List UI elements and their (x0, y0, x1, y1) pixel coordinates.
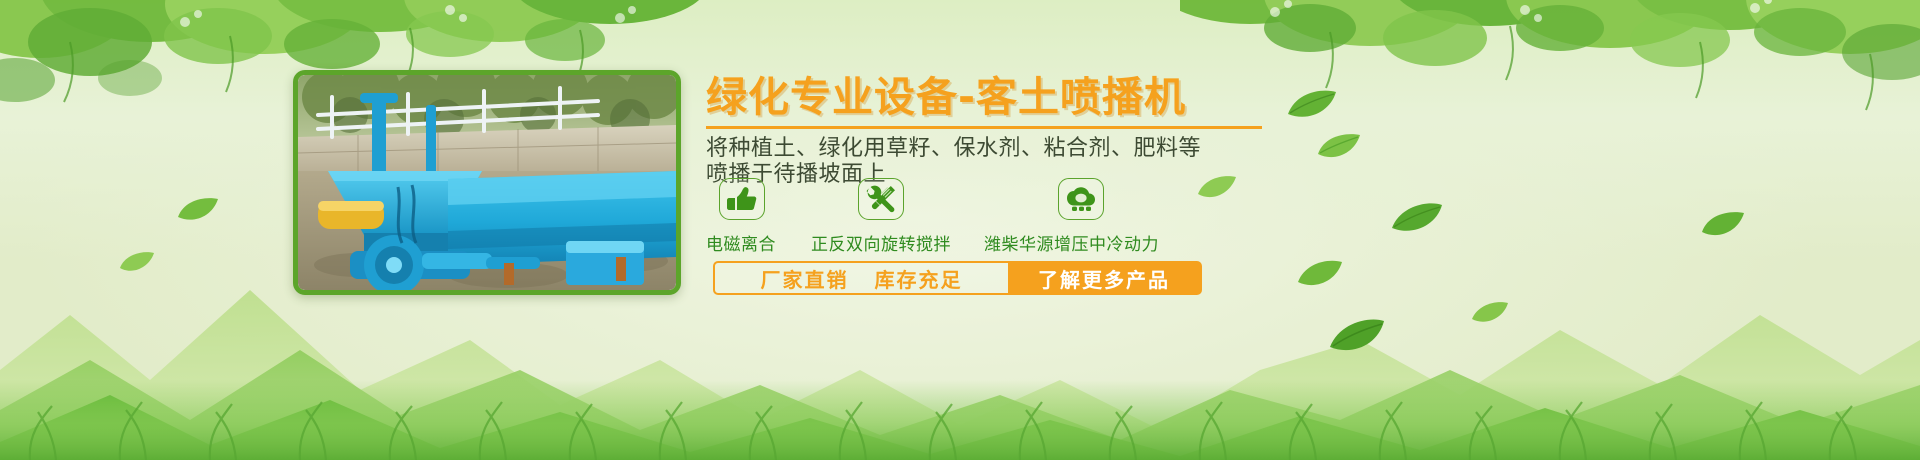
learn-more-button[interactable]: 了解更多产品 (1008, 263, 1200, 293)
grass-foreground (0, 340, 1920, 460)
cta-slogan: 厂家直销 库存充足 (715, 263, 1008, 293)
feature-icon-row (706, 178, 1326, 224)
cta-slogan-right: 库存充足 (875, 264, 963, 293)
floating-leaf-icon (1700, 210, 1746, 240)
feature-label-1: 电磁离合 (706, 230, 776, 255)
thumbs-up-icon (727, 186, 757, 212)
subtitle-line-1: 将种植土、绿化用草籽、保水剂、粘合剂、肥料等 (706, 136, 1326, 162)
floating-leaf-icon (118, 250, 156, 275)
page-title: 绿化专业设备-客土喷播机 (706, 74, 1326, 120)
title-underline (706, 126, 1262, 129)
feature-label-2: 正反双向旋转搅拌 (811, 230, 951, 255)
feature-icon-1[interactable] (719, 178, 765, 220)
floating-leaf-icon (1390, 200, 1444, 236)
feature-list: 电磁离合 正反双向旋转搅拌 潍柴华源增压中冷动力 (706, 178, 1326, 254)
product-photo[interactable] (293, 70, 681, 295)
feature-icon-3[interactable] (1058, 178, 1104, 220)
cta-bar: 厂家直销 库存充足 了解更多产品 (713, 261, 1202, 295)
floating-leaf-icon (176, 196, 220, 224)
cta-slogan-left: 厂家直销 (761, 264, 849, 293)
floating-leaf-icon (1470, 300, 1510, 326)
wrench-screwdriver-icon (866, 185, 896, 213)
engine-power-icon (1066, 186, 1096, 212)
feature-label-3: 潍柴华源增压中冷动力 (984, 230, 1159, 255)
promo-banner: 绿化专业设备-客土喷播机 将种植土、绿化用草籽、保水剂、粘合剂、肥料等 喷播于待… (0, 0, 1920, 460)
floating-leaf-icon (1296, 258, 1344, 290)
floating-leaf-icon (1328, 316, 1386, 356)
feature-label-row: 电磁离合 正反双向旋转搅拌 潍柴华源增压中冷动力 (706, 230, 1326, 254)
feature-icon-2[interactable] (858, 178, 904, 220)
banner-text-block: 绿化专业设备-客土喷播机 将种植土、绿化用草籽、保水剂、粘合剂、肥料等 喷播于待… (706, 74, 1326, 188)
